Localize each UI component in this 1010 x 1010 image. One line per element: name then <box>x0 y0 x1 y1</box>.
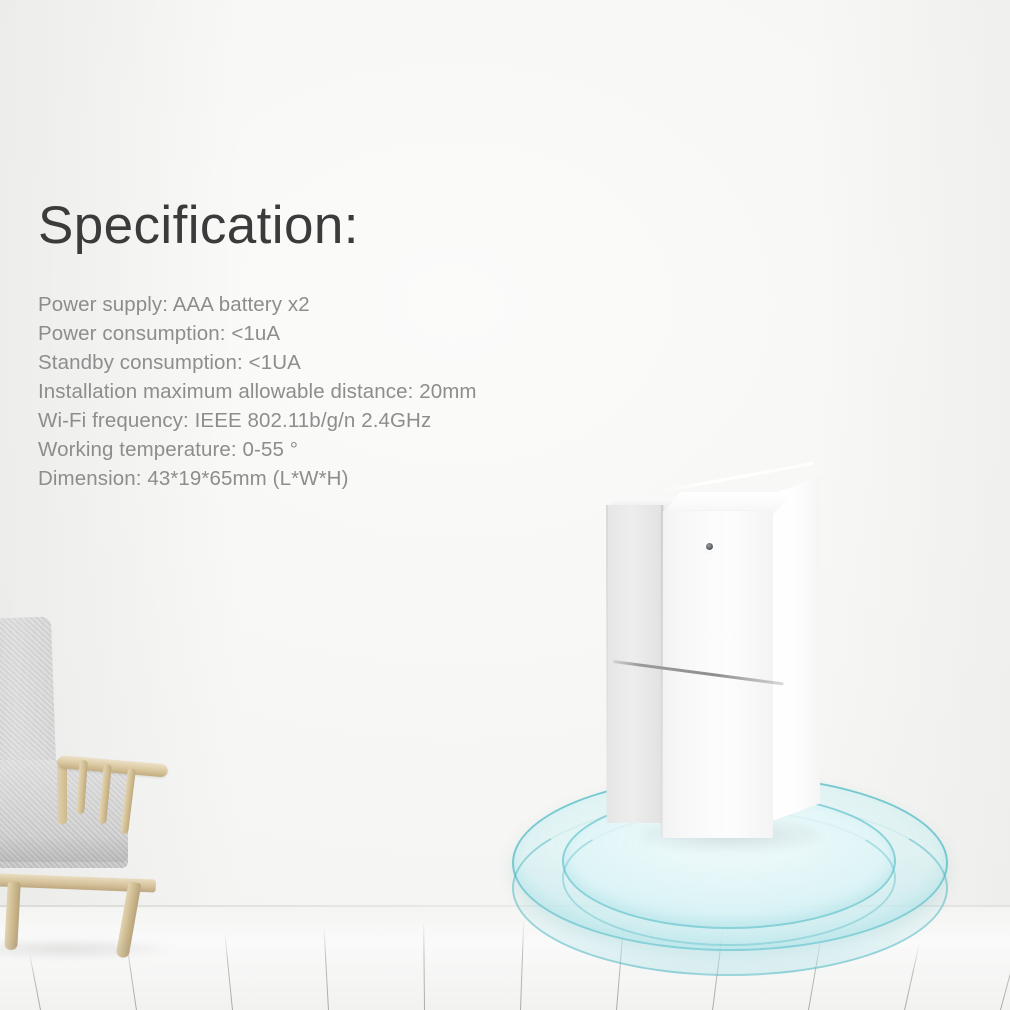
spec-item-working-temperature: Working temperature: 0-55 ° <box>38 435 638 464</box>
sofa-floor-shadow <box>0 938 180 960</box>
sofa-seat-shadow <box>0 836 128 862</box>
status-led-indicator-icon <box>706 543 713 550</box>
spec-item-power-consumption: Power consumption: <1uA <box>38 319 638 348</box>
spec-item-power-supply: Power supply: AAA battery x2 <box>38 290 638 319</box>
sensor-body-left-edge <box>661 505 663 838</box>
specification-block: Specification: Power supply: AAA battery… <box>38 198 638 493</box>
spec-item-wifi-frequency: Wi-Fi frequency: IEEE 802.11b/g/n 2.4GHz <box>38 406 638 435</box>
sensor-magnet-edge <box>606 505 608 823</box>
spec-item-standby-consumption: Standby consumption: <1UA <box>38 348 638 377</box>
spec-item-dimension: Dimension: 43*19*65mm (L*W*H) <box>38 464 638 493</box>
sensor-body-side-face <box>772 477 820 821</box>
product-specification-image: Specification: Power supply: AAA battery… <box>0 0 1010 1010</box>
page-title: Specification: <box>38 198 638 254</box>
specification-list: Power supply: AAA battery x2 Power consu… <box>38 290 638 493</box>
spec-item-installation-distance: Installation maximum allowable distance:… <box>38 377 638 406</box>
